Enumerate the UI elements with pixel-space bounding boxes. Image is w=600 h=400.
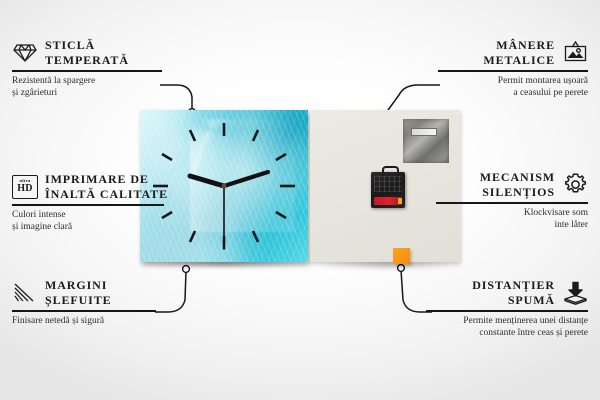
- callout-rule: [12, 70, 162, 72]
- hanger-slot: [411, 128, 437, 136]
- callout-rule: [426, 310, 588, 312]
- clock-hour-hand: [190, 176, 224, 186]
- callout-header: MECANISM SILENȚIOS: [436, 170, 588, 199]
- callout-header: STICLĂ TEMPERATĂ: [12, 38, 162, 67]
- infographic-canvas: STICLĂ TEMPERATĂ Rezistentă la spargere …: [0, 0, 600, 400]
- gear-icon: [562, 173, 588, 197]
- quartz-mechanism-box: [371, 172, 405, 208]
- ultra-hd-badge-icon: ultra HD: [12, 175, 38, 199]
- callout-description: Permit montarea ușoară a ceasului pe per…: [438, 75, 588, 100]
- metal-hanger-plate: [403, 119, 449, 163]
- callout-sticla-temperata: STICLĂ TEMPERATĂ Rezistentă la spargere …: [12, 38, 162, 100]
- callout-header: DISTANȚIER SPUMĂ: [426, 278, 588, 307]
- mechanism-surface-texture: [374, 176, 402, 192]
- callout-header: ultra HD IMPRIMARE DE ÎNALTĂ CALITATE: [12, 172, 164, 201]
- callout-title: STICLĂ TEMPERATĂ: [45, 38, 129, 67]
- callout-description: Finisare netedă și sigură: [12, 315, 156, 328]
- polished-edge-icon: [12, 281, 38, 305]
- callout-title: MÂNERE METALICE: [483, 38, 555, 67]
- callout-description: Culori intense și imagine clară: [12, 209, 164, 234]
- callout-description: Klockvisare som inte låter: [436, 207, 588, 232]
- diamond-icon: [12, 41, 38, 65]
- hd-label: HD: [17, 184, 32, 194]
- callout-margini-slefuite: MARGINI ȘLEFUITE Finisare netedă și sigu…: [12, 278, 156, 327]
- callout-title: MECANISM SILENȚIOS: [480, 170, 555, 199]
- callout-manere-metalice: MÂNERE METALICE Permit montarea ușoară a…: [438, 38, 588, 100]
- foam-spacer-arrow-icon: [562, 281, 588, 305]
- leader-line-margini: [155, 271, 186, 312]
- leader-dot-margini: [183, 266, 190, 273]
- callout-imprimare-inalta-calitate: ultra HD IMPRIMARE DE ÎNALTĂ CALITATE Cu…: [12, 172, 164, 234]
- callout-rule: [12, 204, 164, 206]
- clock-minute-hand: [224, 172, 268, 186]
- callout-mecanism-silentios: MECANISM SILENȚIOS Klockvisare som inte …: [436, 170, 588, 232]
- callout-title: IMPRIMARE DE ÎNALTĂ CALITATE: [45, 172, 168, 201]
- leader-line-sticla: [160, 85, 192, 110]
- callout-header: MARGINI ȘLEFUITE: [12, 278, 156, 307]
- wall-mount-frame-icon: [562, 41, 588, 65]
- callout-rule: [12, 310, 156, 312]
- callout-rule: [438, 70, 588, 72]
- callout-title: MARGINI ȘLEFUITE: [45, 278, 112, 307]
- callout-title: DISTANȚIER SPUMĂ: [472, 278, 555, 307]
- battery: [374, 197, 402, 205]
- callout-description: Rezistentă la spargere și zgârieturi: [12, 75, 162, 100]
- mechanism-hanging-loop: [382, 166, 399, 176]
- battery-terminal: [398, 198, 402, 204]
- callout-distantier-spuma: DISTANȚIER SPUMĂ Permite menținerea unei…: [426, 278, 588, 340]
- callout-description: Permite menținerea unei distanțe constan…: [426, 315, 588, 340]
- clock-center-cap: [222, 184, 227, 189]
- callout-header: MÂNERE METALICE: [438, 38, 588, 67]
- callout-rule: [436, 202, 588, 204]
- foam-spacer-pad: [393, 248, 410, 264]
